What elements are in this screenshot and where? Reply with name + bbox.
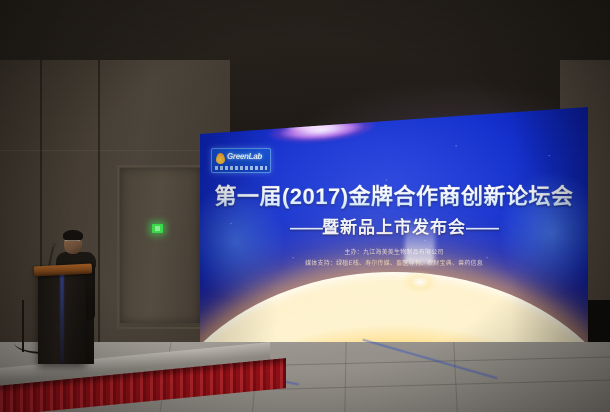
podium-highlight [60,272,64,364]
microphone-icon [52,243,57,247]
led-screen: GreenLab 第一届(2017)金牌合作商创新论坛会 ——暨新品上市发布会—… [200,107,588,350]
conference-photo-scene: GreenLab 第一届(2017)金牌合作商创新论坛会 ——暨新品上市发布会—… [0,0,610,412]
wall-panel-edge [0,150,230,151]
glasses-icon [65,240,80,244]
door-frame [117,165,207,329]
screen-vignette [200,107,588,350]
exit-sign-icon [152,224,163,233]
wall-seam [98,60,100,360]
stage-tile-line [344,342,346,412]
stage-tile-line [453,342,458,412]
